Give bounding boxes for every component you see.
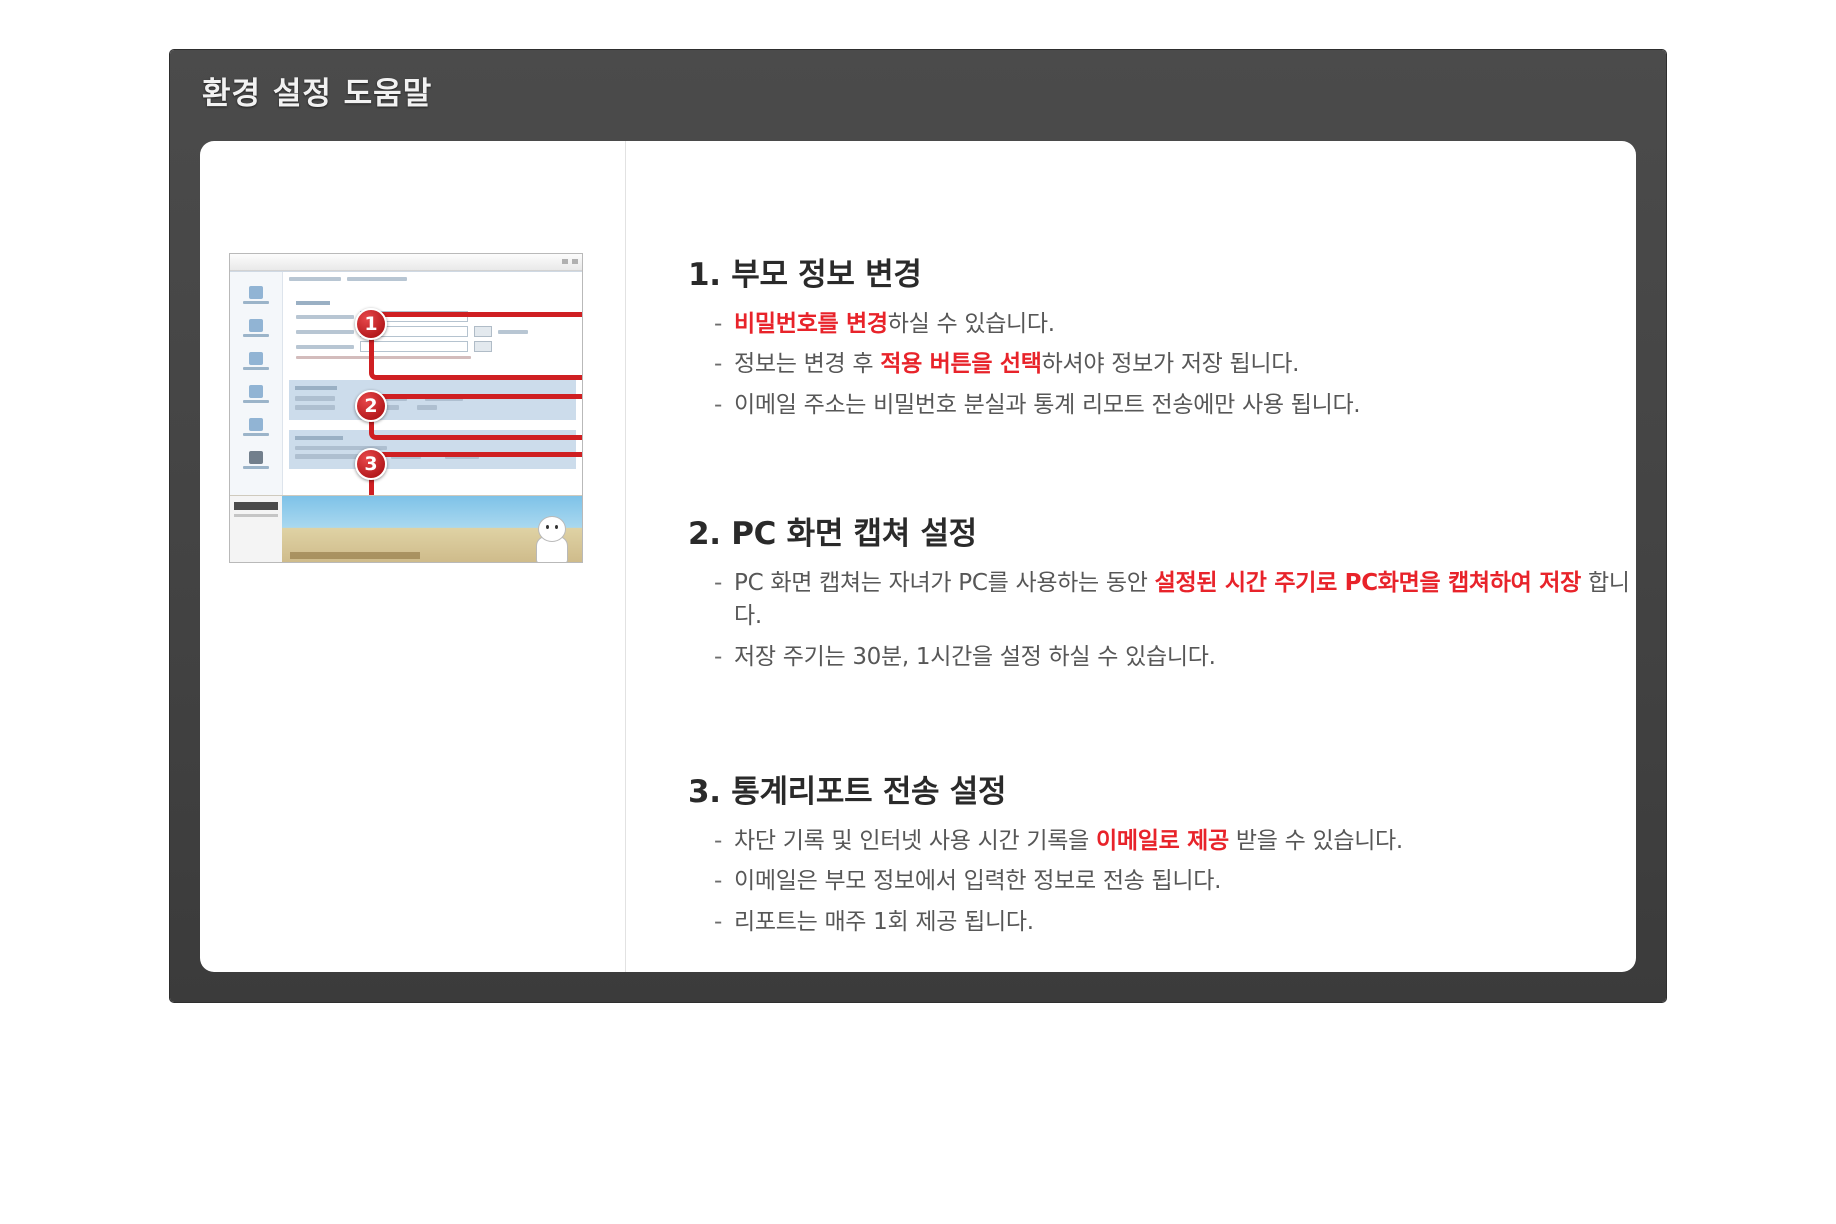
settings-screenshot-thumbnail: 1 2 3	[229, 253, 583, 563]
highlighted-text: 비밀번호를 변경	[734, 311, 888, 337]
section-1-bullets: 비밀번호를 변경하실 수 있습니다. 정보는 변경 후 적용 버튼을 선택하셔야…	[688, 308, 1636, 422]
bullet-item: 이메일 주소는 비밀번호 분실과 통계 리모트 전송에만 사용 됩니다.	[714, 389, 1636, 422]
field-input	[360, 341, 468, 352]
thumbnail-main-panel: 1 2 3	[283, 272, 582, 495]
highlighted-text: 이메일로 제공	[1096, 828, 1229, 854]
section-3-heading: 3. 통계리포트 전송 설정	[688, 766, 1636, 811]
help-window: 환경 설정 도움말	[170, 50, 1666, 1002]
report-settings-panel	[289, 430, 576, 469]
parent-info-panel	[289, 293, 576, 366]
thumbnail-footer	[230, 495, 582, 563]
marker-3: 3	[355, 448, 387, 480]
book-icon	[249, 352, 263, 365]
thumb-nav-item	[230, 344, 282, 377]
help-content-card: 1 2 3	[200, 141, 1636, 972]
capture-settings-panel	[289, 380, 576, 420]
thumb-nav-item	[230, 443, 282, 476]
page-title: 환경 설정 도움말	[202, 68, 432, 113]
window-controls-icon	[562, 259, 578, 264]
section-1-heading: 1. 부모 정보 변경	[688, 249, 1636, 294]
marker-1: 1	[355, 308, 387, 340]
help-section-3: 3. 통계리포트 전송 설정 차단 기록 및 인터넷 사용 시간 기록을 이메일…	[688, 766, 1636, 939]
section-3-bullets: 차단 기록 및 인터넷 사용 시간 기록을 이메일로 제공 받을 수 있습니다.…	[688, 825, 1636, 939]
field-button	[474, 341, 492, 352]
search-icon	[249, 385, 263, 398]
thumbnail-titlebar	[230, 254, 582, 271]
highlighted-text: 적용 버튼을 선택	[880, 351, 1041, 377]
thumbnail-body: 1 2 3	[230, 271, 582, 495]
field-button	[474, 326, 492, 337]
star-icon	[249, 418, 263, 431]
section-2-heading: 2. PC 화면 캡쳐 설정	[688, 508, 1636, 553]
gear-icon	[249, 451, 263, 464]
window-title-bar: 환경 설정 도움말	[170, 50, 1666, 130]
footer-banner	[282, 496, 582, 563]
mascot-icon	[534, 516, 568, 562]
bullet-item: 이메일은 부모 정보에서 입력한 정보로 전송 됩니다.	[714, 865, 1636, 898]
help-section-1: 1. 부모 정보 변경 비밀번호를 변경하실 수 있습니다. 정보는 변경 후 …	[688, 249, 1636, 422]
bullet-item: 차단 기록 및 인터넷 사용 시간 기록을 이메일로 제공 받을 수 있습니다.	[714, 825, 1636, 858]
bullet-item: 리포트는 매주 1회 제공 됩니다.	[714, 906, 1636, 939]
marker-2: 2	[355, 390, 387, 422]
section-2-bullets: PC 화면 캡쳐는 자녀가 PC를 사용하는 동안 설정된 시간 주기로 PC화…	[688, 567, 1636, 674]
help-section-2: 2. PC 화면 캡쳐 설정 PC 화면 캡쳐는 자녀가 PC를 사용하는 동안…	[688, 508, 1636, 674]
screenshot-column: 1 2 3	[200, 141, 626, 972]
thumb-nav-item	[230, 278, 282, 311]
highlighted-text: 설정된 시간 주기로 PC화면을 캡쳐하여 저장	[1155, 570, 1581, 596]
thumbnail-sidebar	[230, 272, 283, 495]
footer-code-block	[234, 502, 278, 510]
bullet-item: 비밀번호를 변경하실 수 있습니다.	[714, 308, 1636, 341]
user-icon	[249, 319, 263, 332]
bullet-item: 저장 주기는 30분, 1시간을 설정 하실 수 있습니다.	[714, 641, 1636, 674]
shield-icon	[249, 286, 263, 299]
help-text-column: 1. 부모 정보 변경 비밀번호를 변경하실 수 있습니다. 정보는 변경 후 …	[626, 141, 1636, 972]
thumb-nav-item	[230, 377, 282, 410]
thumb-nav-item	[230, 311, 282, 344]
thumb-nav-item	[230, 410, 282, 443]
bullet-item: 정보는 변경 후 적용 버튼을 선택하셔야 정보가 저장 됩니다.	[714, 348, 1636, 381]
bullet-item: PC 화면 캡쳐는 자녀가 PC를 사용하는 동안 설정된 시간 주기로 PC화…	[714, 567, 1636, 634]
